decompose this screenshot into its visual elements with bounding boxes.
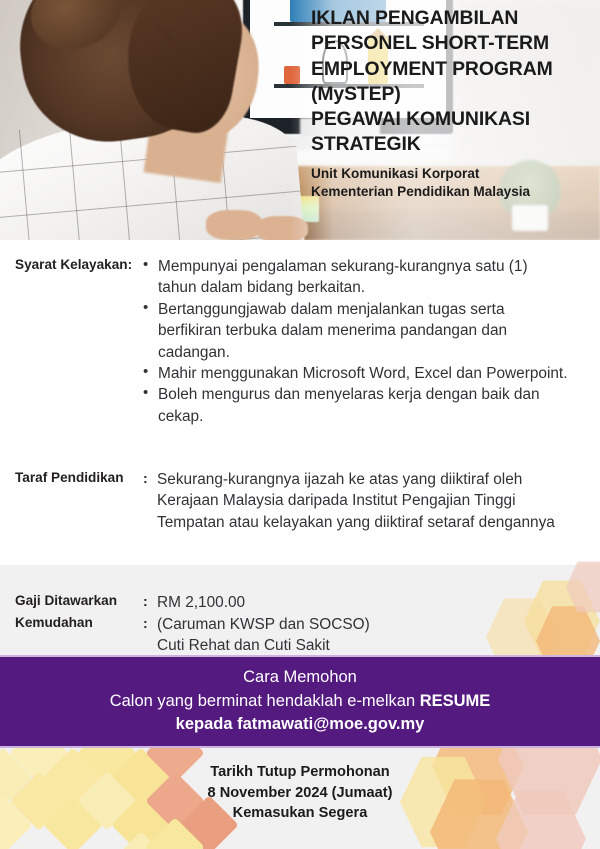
header-title-block: IKLAN PENGAMBILAN PERSONEL SHORT-TERM EM…	[311, 6, 593, 201]
title-line-2: PERSONEL SHORT-TERM	[311, 31, 593, 56]
poster-header: IKLAN PENGAMBILAN PERSONEL SHORT-TERM EM…	[0, 0, 600, 240]
title-line-5: PEGAWAI KOMUNIKASI	[311, 107, 593, 132]
job-advertisement-poster: IKLAN PENGAMBILAN PERSONEL SHORT-TERM EM…	[0, 0, 600, 849]
requirements-value: Mempunyai pengalaman sekurang-kurangnya …	[143, 256, 568, 427]
closing-date-block: Tarikh Tutup Permohonan 8 November 2024 …	[0, 762, 600, 824]
shirt-grid-line	[19, 130, 33, 240]
benefits-value-line-2: Cuti Rehat dan Cuti Sakit	[157, 635, 582, 656]
org-line-1: Unit Komunikasi Korporat	[311, 165, 593, 183]
requirement-item: Mahir menggunakan Microsoft Word, Excel …	[143, 363, 568, 384]
requirements-list: Mempunyai pengalaman sekurang-kurangnya …	[143, 256, 568, 427]
apply-heading: Cara Memohon	[243, 666, 357, 689]
requirement-item: Boleh mengurus dan menyelaras kerja deng…	[143, 384, 568, 427]
header-org-block: Unit Komunikasi Korporat Kementerian Pen…	[311, 165, 593, 201]
apply-email-line[interactable]: kepada fatmawati@moe.gov.my	[176, 713, 425, 736]
photo-hand-left	[206, 210, 262, 240]
closing-line-1: Tarikh Tutup Permohonan	[0, 762, 600, 783]
title-line-3: EMPLOYMENT PROGRAM	[311, 57, 593, 82]
requirement-item: Bertanggungjawab dalam menjalankan tugas…	[143, 299, 568, 363]
requirements-label: Syarat Kelayakan:	[0, 256, 143, 427]
title-line-4: (MySTEP)	[311, 82, 593, 107]
education-colon: :	[143, 469, 157, 533]
salary-row: Gaji Ditawarkan : RM 2,100.00	[0, 592, 600, 613]
apply-instruction: Calon yang berminat hendaklah e-melkan R…	[110, 690, 491, 713]
requirement-item: Mempunyai pengalaman sekurang-kurangnya …	[143, 256, 568, 299]
title-line-1: IKLAN PENGAMBILAN	[311, 6, 593, 31]
closing-line-3: Kemasukan Segera	[0, 803, 600, 824]
salary-colon: :	[143, 592, 157, 613]
education-row: Taraf Pendidikan : Sekurang-kurangnya ij…	[0, 469, 600, 533]
education-label: Taraf Pendidikan	[0, 469, 143, 533]
apply-banner: Cara Memohon Calon yang berminat hendakl…	[0, 655, 600, 748]
salary-label: Gaji Ditawarkan	[0, 592, 143, 613]
title-line-6: STRATEGIK	[311, 132, 593, 157]
poster-footer: Tarikh Tutup Permohonan 8 November 2024 …	[0, 748, 600, 849]
benefits-colon: :	[143, 614, 157, 657]
apply-resume-keyword: RESUME	[420, 692, 491, 710]
benefits-value-line-1: (Caruman KWSP dan SOCSO)	[157, 614, 582, 635]
requirements-row: Syarat Kelayakan: Mempunyai pengalaman s…	[0, 256, 600, 427]
shirt-grid-line	[69, 125, 83, 240]
education-value: Sekurang-kurangnya ijazah ke atas yang d…	[157, 469, 582, 533]
salary-value: RM 2,100.00	[157, 592, 582, 613]
apply-instruction-prefix: Calon yang berminat hendaklah e-melkan	[110, 692, 420, 710]
benefits-value: (Caruman KWSP dan SOCSO) Cuti Rehat dan …	[157, 614, 582, 657]
closing-line-2: 8 November 2024 (Jumaat)	[0, 783, 600, 804]
org-line-2: Kementerian Pendidikan Malaysia	[311, 183, 593, 201]
benefits-label: Kemudahan	[0, 614, 143, 657]
benefits-row: Kemudahan : (Caruman KWSP dan SOCSO) Cut…	[0, 614, 600, 657]
